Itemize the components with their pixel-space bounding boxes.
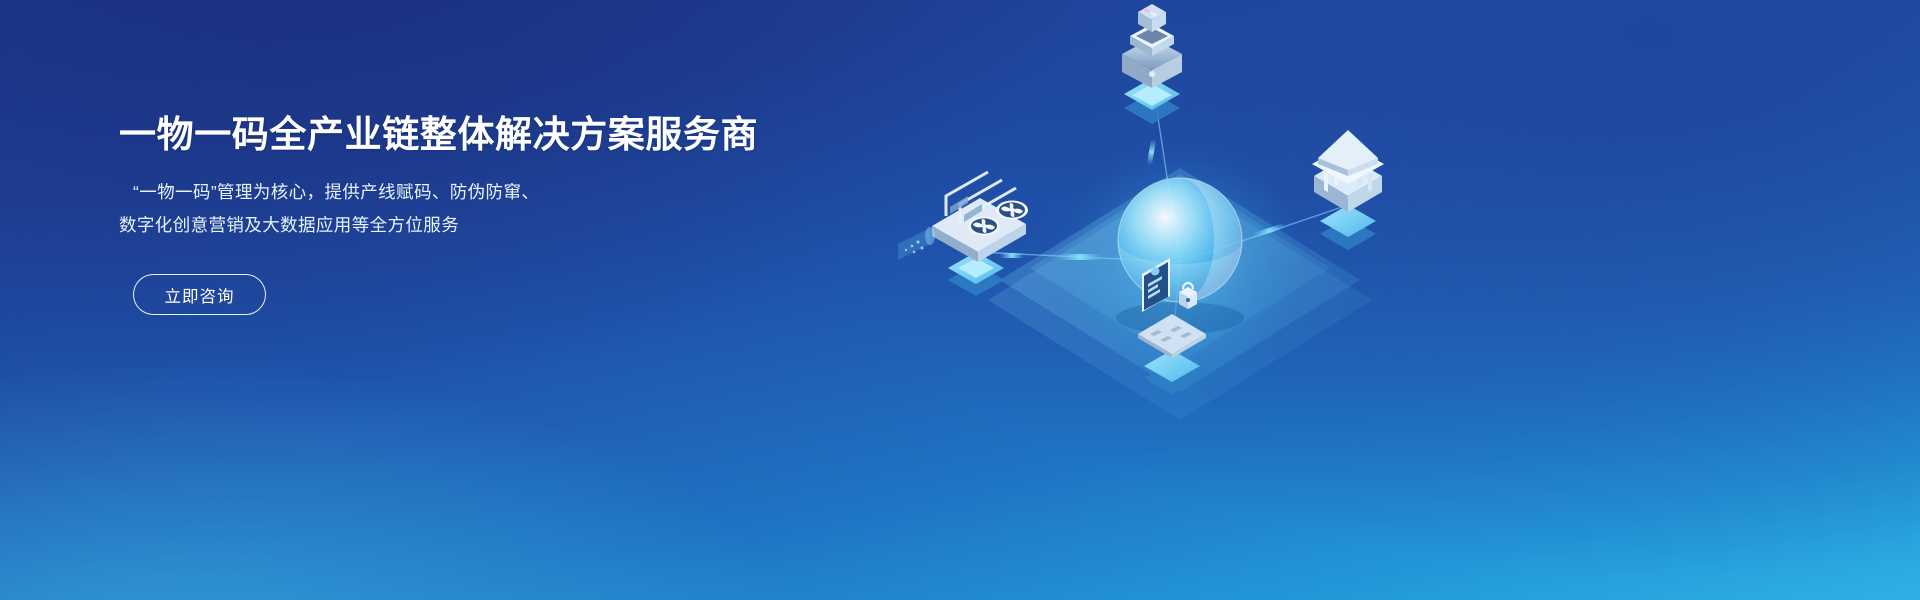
hero-banner: 一物一码全产业链整体解决方案服务商 “一物一码”管理为核心，提供产线赋码、防伪防…: [0, 0, 1920, 600]
bank-building-icon: [1312, 130, 1384, 212]
isometric-illustration: [880, 0, 1480, 600]
airflow-icon: [898, 227, 935, 260]
server-fan-icon: [898, 172, 1028, 262]
hero-subtitle-line-2: 数字化创意营销及大数据应用等全方位服务: [119, 209, 758, 242]
hero-subtitle-line-1: “一物一码”管理为核心，提供产线赋码、防伪防窜、: [133, 176, 758, 209]
consult-now-button[interactable]: 立即咨询: [133, 274, 266, 315]
pos-terminal-icon: [1122, 4, 1182, 88]
page-title: 一物一码全产业链整体解决方案服务商: [119, 112, 758, 158]
hero-copy-block: 一物一码全产业链整体解决方案服务商 “一物一码”管理为核心，提供产线赋码、防伪防…: [119, 112, 758, 315]
